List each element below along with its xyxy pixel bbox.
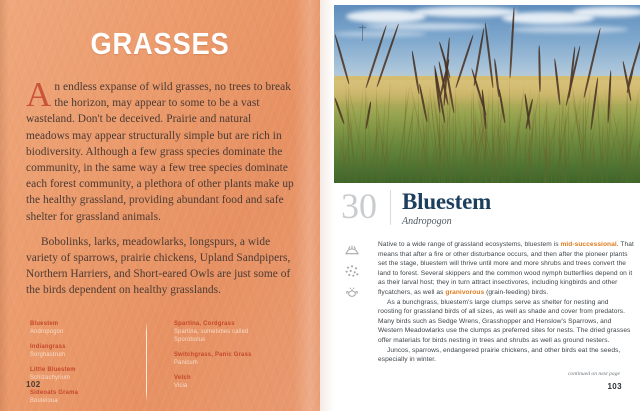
species-common-name: Spartina, Cordgrass	[174, 320, 269, 328]
icon-rail	[334, 240, 378, 365]
page-number-left: 102	[26, 380, 41, 389]
grass-blade	[343, 118, 344, 183]
intro-paragraph-1-text: n endless expanse of wild grasses, no tr…	[26, 81, 294, 223]
right-page: 30 Bluestem Andropogon Native to a	[320, 0, 640, 411]
grass-blade	[439, 107, 440, 183]
grass-blade	[509, 72, 510, 183]
drop-cap: A	[26, 79, 54, 109]
cloud-shape	[511, 26, 627, 33]
entry-number: 30	[334, 188, 390, 224]
list-item: Little Bluestem Schizachyrium	[30, 366, 152, 382]
heading-rule	[390, 190, 391, 225]
grass-blade	[568, 92, 569, 183]
species-common-name: Vetch	[174, 374, 269, 382]
grass-blade	[498, 91, 499, 183]
entry-paragraph-3: Juncos, sparrows, endangered prairie chi…	[378, 346, 634, 365]
grass-blade	[376, 81, 377, 183]
species-common-name: Bluestem	[30, 320, 146, 328]
grass-blade	[485, 123, 486, 183]
entry-body-text: Native to a wide range of grassland ecos…	[378, 240, 634, 365]
entry-body: Native to a wide range of grassland ecos…	[334, 240, 634, 365]
grassland-photo	[334, 5, 640, 183]
grass-blade	[492, 82, 493, 183]
list-item: Vetch Vicia	[174, 374, 274, 390]
grass-blade	[529, 123, 530, 183]
page-number-right: 103	[607, 382, 622, 391]
habitat-icon	[344, 242, 360, 256]
list-item: Bluestem Andropogon	[30, 320, 152, 336]
paragraph-1-part-3: (grain-feeding) birds.	[484, 289, 548, 296]
species-latin-name: Bouteloua	[30, 397, 146, 405]
grass-blade	[627, 79, 628, 183]
entry-paragraph-2: As a bunchgrass, bluestem's large clumps…	[378, 298, 634, 346]
continued-note: continued on next page	[568, 371, 620, 377]
species-common-name: Switchgrass, Panic Grass	[174, 351, 269, 359]
list-item: Switchgrass, Panic Grass Panicum	[174, 351, 274, 367]
grass-blade	[525, 123, 526, 183]
utility-pole	[362, 25, 363, 41]
entry-paragraph-1: Native to a wide range of grassland ecos…	[378, 240, 634, 298]
species-common-name: Little Bluestem	[30, 366, 146, 374]
book-spread: GRASSES An endless expanse of wild grass…	[0, 0, 640, 411]
species-latin-name: Panicum	[174, 359, 269, 367]
species-common-name: Sideoats Grama	[30, 389, 146, 397]
grass-blade	[455, 81, 456, 183]
grass-blade	[426, 116, 427, 183]
chapter-title: GRASSES	[42, 0, 278, 62]
species-column-right: Spartina, Cordgrass Spartina, sometimes …	[152, 320, 274, 411]
grass-blade	[583, 92, 584, 183]
species-column-left: Bluestem Andropogon Indiangrass Sorghast…	[30, 320, 152, 411]
seed-icon	[344, 264, 360, 278]
grass-blade	[539, 87, 540, 183]
species-latin-name: Andropogon	[30, 328, 146, 336]
species-latin-name: Spartina, sometimes called Sporobolus	[174, 328, 269, 344]
entry-heading-text: Bluestem Andropogon	[402, 188, 640, 227]
highlighted-term-mid-successional: mid-successional	[560, 241, 616, 248]
grass-blade	[473, 80, 474, 183]
entry-latin-name: Andropogon	[402, 216, 640, 227]
grass-blade	[453, 107, 454, 183]
grass-blade	[449, 72, 450, 183]
grass-blade	[348, 78, 349, 183]
list-item: Sideoats Grama Bouteloua	[30, 389, 152, 405]
entry-heading: 30 Bluestem Andropogon	[334, 188, 640, 227]
grass-blade	[607, 117, 608, 183]
list-item: Indiangrass Sorghastrum	[30, 343, 152, 359]
paragraph-1-part-1: Native to a wide range of grassland ecos…	[378, 241, 560, 248]
intro-paragraph-2: Bobolinks, larks, meadowlarks, longspurs…	[26, 234, 294, 299]
entry-common-name: Bluestem	[402, 189, 640, 214]
species-common-name: Indiangrass	[30, 343, 146, 351]
species-latin-name: Vicia	[174, 382, 269, 390]
grass-blade	[565, 101, 566, 183]
list-item: Spartina, Cordgrass Spartina, sometimes …	[174, 320, 274, 344]
left-page: GRASSES An endless expanse of wild grass…	[0, 0, 320, 411]
cloud-shape	[365, 23, 487, 30]
grass-blade	[590, 124, 591, 183]
grass-blade	[365, 82, 366, 183]
grass-blade	[630, 96, 631, 183]
grass-blade	[504, 118, 505, 183]
grass-blade	[418, 87, 419, 183]
insect-icon	[344, 286, 360, 300]
intro-paragraph-1: An endless expanse of wild grasses, no t…	[26, 79, 294, 225]
species-latin-name: Schizachyrium	[30, 374, 146, 382]
species-list: Bluestem Andropogon Indiangrass Sorghast…	[26, 320, 294, 411]
cloud-shape	[334, 31, 426, 37]
highlighted-term-granivorous: granivorous	[445, 289, 484, 296]
species-latin-name: Sorghastrum	[30, 351, 146, 359]
intro-text: An endless expanse of wild grasses, no t…	[26, 79, 294, 299]
grass-blade	[559, 99, 560, 183]
paragraph-1-part-2: . That means that after a fire or other …	[378, 241, 634, 296]
species-list-divider	[146, 322, 147, 402]
grass-blade	[447, 98, 448, 183]
grass-blade	[444, 117, 445, 183]
